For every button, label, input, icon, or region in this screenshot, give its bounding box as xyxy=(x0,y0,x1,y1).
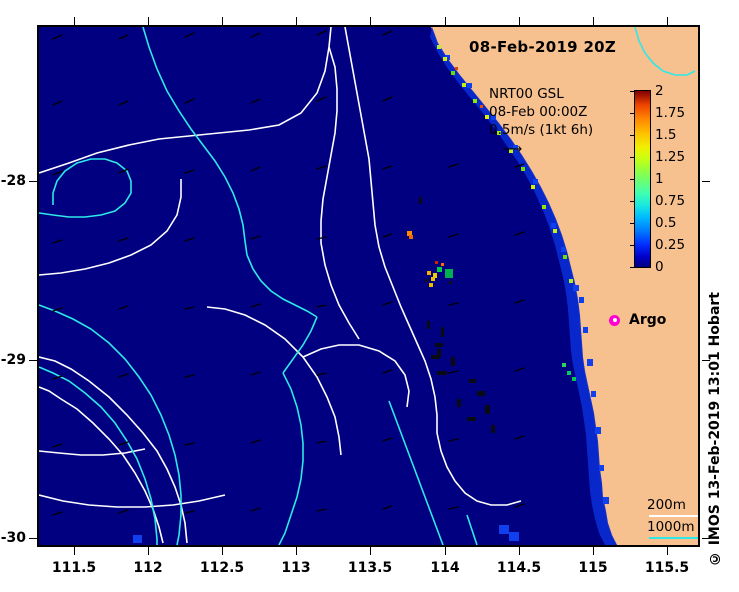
colorbar-label: 0.75 xyxy=(655,193,685,209)
colorbar-tick xyxy=(630,157,635,158)
colorbar-label: 1 xyxy=(655,171,664,187)
x-tick-label: 115 xyxy=(578,560,607,576)
colorbar-tick xyxy=(630,135,635,136)
depth-1000m-label: 1000m xyxy=(647,519,695,535)
depth-legend: 200m 1000m xyxy=(647,497,700,539)
annotation-line-1: NRT00 GSL xyxy=(489,85,593,103)
y-tick-label: -28 xyxy=(0,173,26,189)
colorbar-tick xyxy=(630,223,635,224)
depth-1000m-line xyxy=(649,537,700,539)
colorbar-title: Age (days) of filled SST (wrt latest) xyxy=(696,90,700,268)
copyright-text: © IMOS 13-Feb-2019 13:01 Hobart xyxy=(707,292,723,566)
y-tick-label: -30 xyxy=(0,530,26,546)
timestamp-title: 08-Feb-2019 20Z xyxy=(469,38,616,56)
current-annotation: NRT00 GSL 08-Feb 00:00Z 0.5m/s (1kt 6h) … xyxy=(489,85,593,158)
map-plot-area[interactable]: 08-Feb-2019 20Z NRT00 GSL 08-Feb 00:00Z … xyxy=(37,25,700,547)
x-tick-label: 111.5 xyxy=(52,560,96,576)
colorbar-label: 1.25 xyxy=(655,149,685,165)
current-vectors xyxy=(53,31,524,515)
x-tick-label: 114.5 xyxy=(497,560,541,576)
argo-marker-icon xyxy=(609,315,620,326)
colorbar-tick xyxy=(630,245,635,246)
colorbar-tick xyxy=(630,201,635,202)
colorbar-tick xyxy=(630,91,635,92)
annotation-line-3: 0.5m/s (1kt 6h) xyxy=(489,121,593,139)
colorbar-label: 2 xyxy=(655,83,664,99)
colorbar-gradient xyxy=(634,90,651,268)
annotation-line-2: 08-Feb 00:00Z xyxy=(489,103,593,121)
isobath-200m xyxy=(39,27,521,543)
colorbar-tick xyxy=(630,113,635,114)
x-tick-label: 114 xyxy=(430,560,459,576)
x-tick-label: 112.5 xyxy=(200,560,244,576)
current-arrow-icon: ⟶ xyxy=(503,140,593,158)
argo-legend-label: Argo xyxy=(629,312,666,328)
x-tick-label: 113.5 xyxy=(348,560,392,576)
colorbar-label: 0.5 xyxy=(655,215,676,231)
colorbar-label: 0.25 xyxy=(655,237,685,253)
colorbar-tick xyxy=(630,267,635,268)
y-tick-label: -29 xyxy=(0,352,26,368)
masked-pixel-streaks xyxy=(419,197,495,433)
colorbar-label: 1.5 xyxy=(655,127,676,143)
age-data-pixels xyxy=(407,231,453,287)
map-graphics xyxy=(39,27,698,545)
colorbar-label: 0 xyxy=(655,259,664,275)
colorbar-tick xyxy=(630,179,635,180)
x-tick-label: 113 xyxy=(281,560,310,576)
x-tick-label: 115.5 xyxy=(645,560,689,576)
x-tick-label: 112 xyxy=(133,560,162,576)
sst-age-map-figure: 08-Feb-2019 20Z NRT00 GSL 08-Feb 00:00Z … xyxy=(0,0,739,592)
argo-legend: Argo xyxy=(609,312,666,328)
depth-200m-line xyxy=(649,515,700,517)
colorbar-label: 1.75 xyxy=(655,105,685,121)
depth-200m-label: 200m xyxy=(647,497,686,513)
